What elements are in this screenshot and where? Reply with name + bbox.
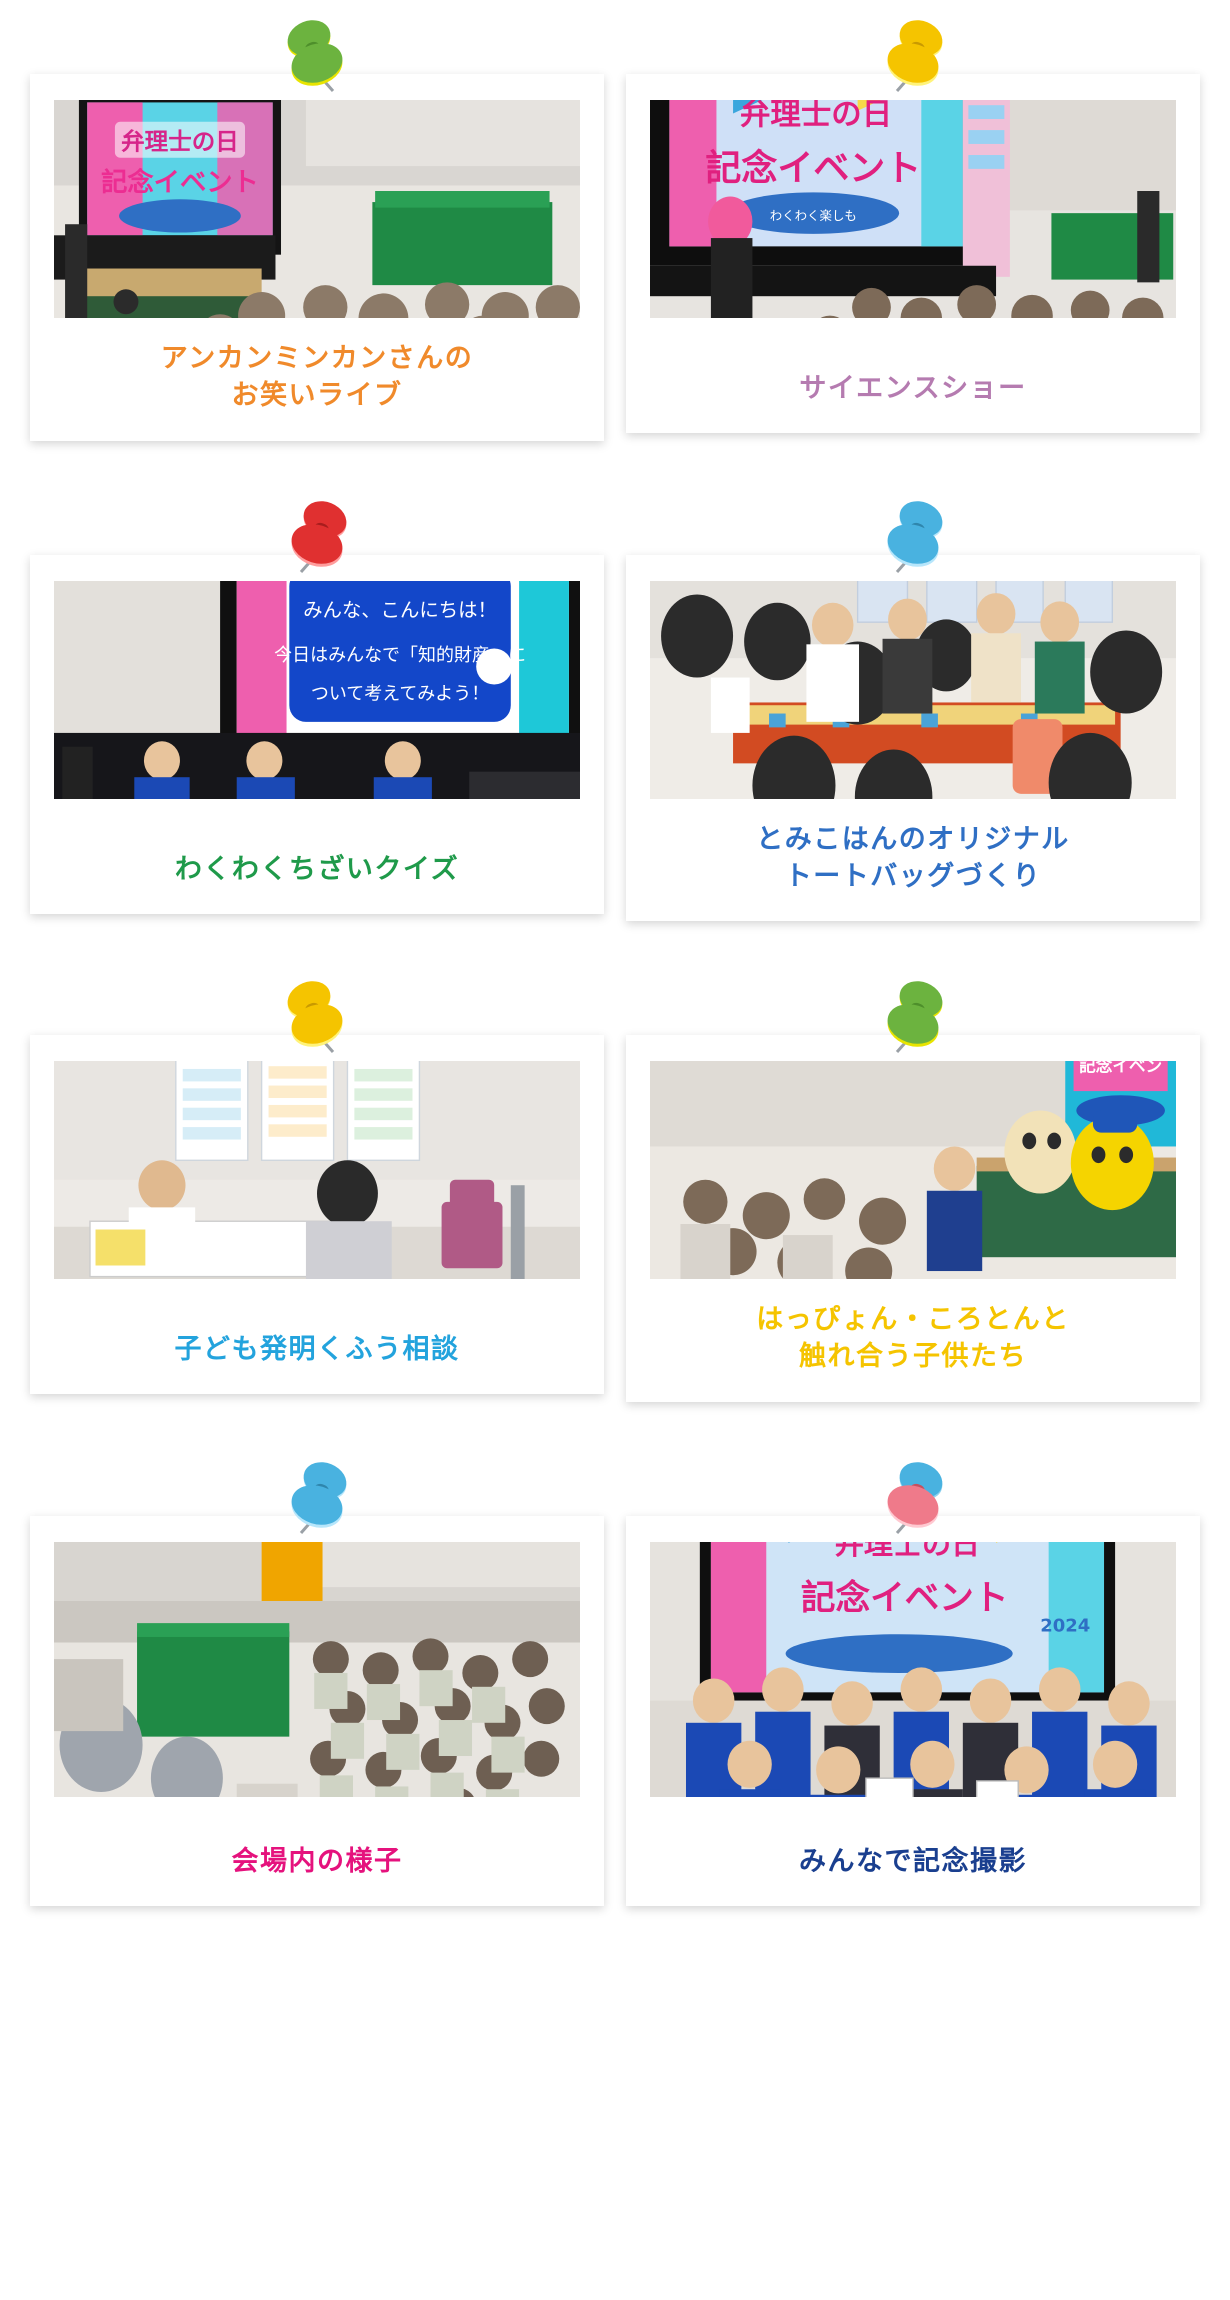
photo-caption: 子ども発明くふう相談 xyxy=(54,1279,580,1394)
photo-caption: サイエンスショー xyxy=(650,318,1176,433)
caption-line: 子ども発明くふう相談 xyxy=(58,1331,576,1368)
svg-text:わくわく楽しも: わくわく楽しも xyxy=(770,208,857,223)
svg-text:記念イベント: 記念イベント xyxy=(705,147,921,189)
gallery-cell: 弁理士の日 記念イベント わくわく楽しも xyxy=(626,0,1200,481)
svg-text:2024: 2024 xyxy=(1040,1615,1090,1636)
gallery-cell: 会場内の様子 xyxy=(30,1442,604,1946)
photo-card[interactable]: みんな、こんにちは！ 今日はみんなで「知的財産」に ついて考えてみよう！ xyxy=(30,555,604,914)
svg-text:弁理士の日: 弁理士の日 xyxy=(740,100,892,133)
caption-line: とみこはんのオリジナル xyxy=(654,821,1172,858)
photo-thumbnail[interactable]: 弁理士の日 記念イベント 2024 xyxy=(650,1542,1176,1797)
photo-thumbnail[interactable] xyxy=(650,581,1176,799)
gallery-cell: みんな、こんにちは！ 今日はみんなで「知的財産」に ついて考えてみよう！ xyxy=(30,481,604,962)
photo-caption: とみこはんのオリジナル トートバッグづくり xyxy=(650,799,1176,922)
photo-caption: アンカンミンカンさんの お笑いライブ xyxy=(54,318,580,441)
caption-line: アンカンミンカンさんの xyxy=(58,340,576,377)
photo-card[interactable]: 弁理士の日 記念イベント xyxy=(30,74,604,441)
photo-thumbnail[interactable]: みんな、こんにちは！ 今日はみんなで「知的財産」に ついて考えてみよう！ xyxy=(54,581,580,799)
svg-text:記念イベント: 記念イベント xyxy=(101,167,259,198)
photo-caption: みんなで記念撮影 xyxy=(650,1797,1176,1906)
caption-line: サイエンスショー xyxy=(654,370,1172,407)
photo-card[interactable]: 子ども発明くふう相談 xyxy=(30,1035,604,1394)
svg-text:弁理士の日: 弁理士の日 xyxy=(835,1542,980,1561)
photo-caption: はっぴょん・ころとんと 触れ合う子供たち xyxy=(650,1279,1176,1402)
svg-text:記念イベン: 記念イベン xyxy=(1079,1061,1162,1076)
photo-card[interactable]: とみこはんのオリジナル トートバッグづくり xyxy=(626,555,1200,922)
photo-card[interactable]: 弁理士の日 記念イベント わくわく楽しも xyxy=(626,74,1200,433)
caption-line: お笑いライブ xyxy=(58,377,576,414)
photo-gallery: 弁理士の日 記念イベント xyxy=(0,0,1230,2300)
svg-text:記念イベント: 記念イベント xyxy=(801,1578,1009,1618)
photo-caption: 会場内の様子 xyxy=(54,1797,580,1906)
svg-text:みんな、こんにちは！: みんな、こんにちは！ xyxy=(303,598,497,621)
photo-caption: わくわくちざいクイズ xyxy=(54,799,580,914)
photo-thumbnail[interactable]: 弁理士の日 記念イベント xyxy=(54,100,580,318)
gallery-cell: とみこはんのオリジナル トートバッグづくり xyxy=(626,481,1200,962)
caption-line: 会場内の様子 xyxy=(58,1843,576,1880)
gallery-cell: 記念イベン xyxy=(626,961,1200,1442)
caption-line: みんなで記念撮影 xyxy=(654,1843,1172,1880)
photo-card[interactable]: 弁理士の日 記念イベント 2024 xyxy=(626,1516,1200,1906)
gallery-cell: 弁理士の日 記念イベント 2024 xyxy=(626,1442,1200,1946)
svg-text:ついて考えてみよう！: ついて考えてみよう！ xyxy=(311,683,489,704)
photo-thumbnail[interactable] xyxy=(54,1061,580,1279)
photo-card[interactable]: 記念イベン xyxy=(626,1035,1200,1402)
photo-card[interactable]: 会場内の様子 xyxy=(30,1516,604,1906)
caption-line: 触れ合う子供たち xyxy=(654,1338,1172,1375)
caption-line: わくわくちざいクイズ xyxy=(58,851,576,888)
caption-line: トートバッグづくり xyxy=(654,858,1172,895)
gallery-cell: 子ども発明くふう相談 xyxy=(30,961,604,1442)
photo-thumbnail[interactable] xyxy=(54,1542,580,1797)
svg-text:弁理士の日: 弁理士の日 xyxy=(121,127,239,155)
gallery-grid: 弁理士の日 記念イベント xyxy=(0,0,1230,1946)
gallery-cell: 弁理士の日 記念イベント xyxy=(30,0,604,481)
caption-line: はっぴょん・ころとんと xyxy=(654,1301,1172,1338)
photo-thumbnail[interactable]: 弁理士の日 記念イベント わくわく楽しも xyxy=(650,100,1176,318)
photo-thumbnail[interactable]: 記念イベン xyxy=(650,1061,1176,1279)
